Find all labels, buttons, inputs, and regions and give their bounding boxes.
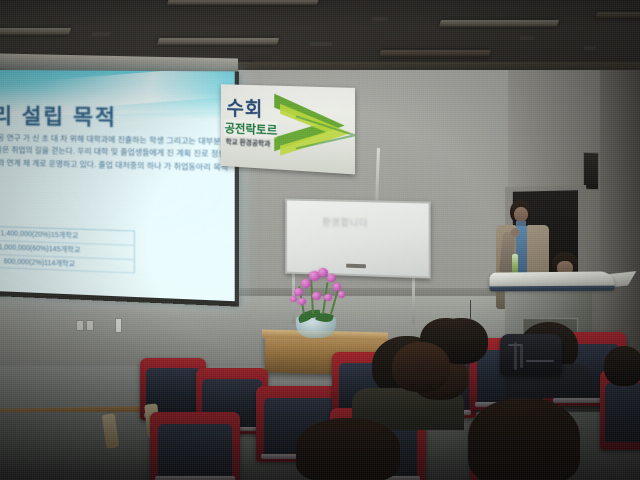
wall-outlet: [86, 320, 94, 331]
wall-outlet: [76, 320, 84, 331]
slide-data-table: 1,400,000(20%)15개학교 1,000,000(60%)145개학교…: [0, 224, 135, 273]
podium-top-edge: [489, 286, 614, 292]
audience-head-far-right: [604, 346, 640, 386]
wall-switch: [115, 318, 122, 333]
projection-screen: 동아리 설립 목적 졸업 예정 전공 연구 가 신 초 대 차 위해 대학과에 …: [0, 70, 239, 303]
banner-sub-text: 공전락토르: [225, 119, 278, 138]
banner-department-text: 학교 환경공학과: [226, 137, 271, 149]
slide-title: 동아리 설립 목적: [0, 100, 207, 134]
presenter-face: [514, 207, 528, 222]
presenter-hand: [511, 228, 519, 237]
water-bottle: [512, 254, 518, 274]
backpack: [500, 334, 562, 376]
green-chevron-logo-icon: [266, 89, 355, 173]
whiteboard: 환영합니다: [285, 198, 430, 278]
lecture-hall-photo: 동아리 설립 목적 졸업 예정 전공 연구 가 신 초 대 차 위해 대학과에 …: [0, 0, 640, 480]
banner-main-text: 수회: [227, 92, 264, 122]
slide-body-text: 졸업 예정 전공 연구 가 신 초 대 차 위해 대학과에 진출하는 학생 그리…: [0, 131, 228, 187]
whiteboard-writing: 환영합니다: [322, 215, 406, 229]
audience-head-foreground: [296, 418, 400, 480]
event-banner: 수회 공전락토르 학교 환경공학과: [221, 84, 355, 174]
seat: [150, 412, 240, 480]
audience-head-right-lower: [392, 342, 450, 392]
audience-head-foreground-right: [468, 398, 580, 480]
marker-tray: [346, 264, 366, 269]
